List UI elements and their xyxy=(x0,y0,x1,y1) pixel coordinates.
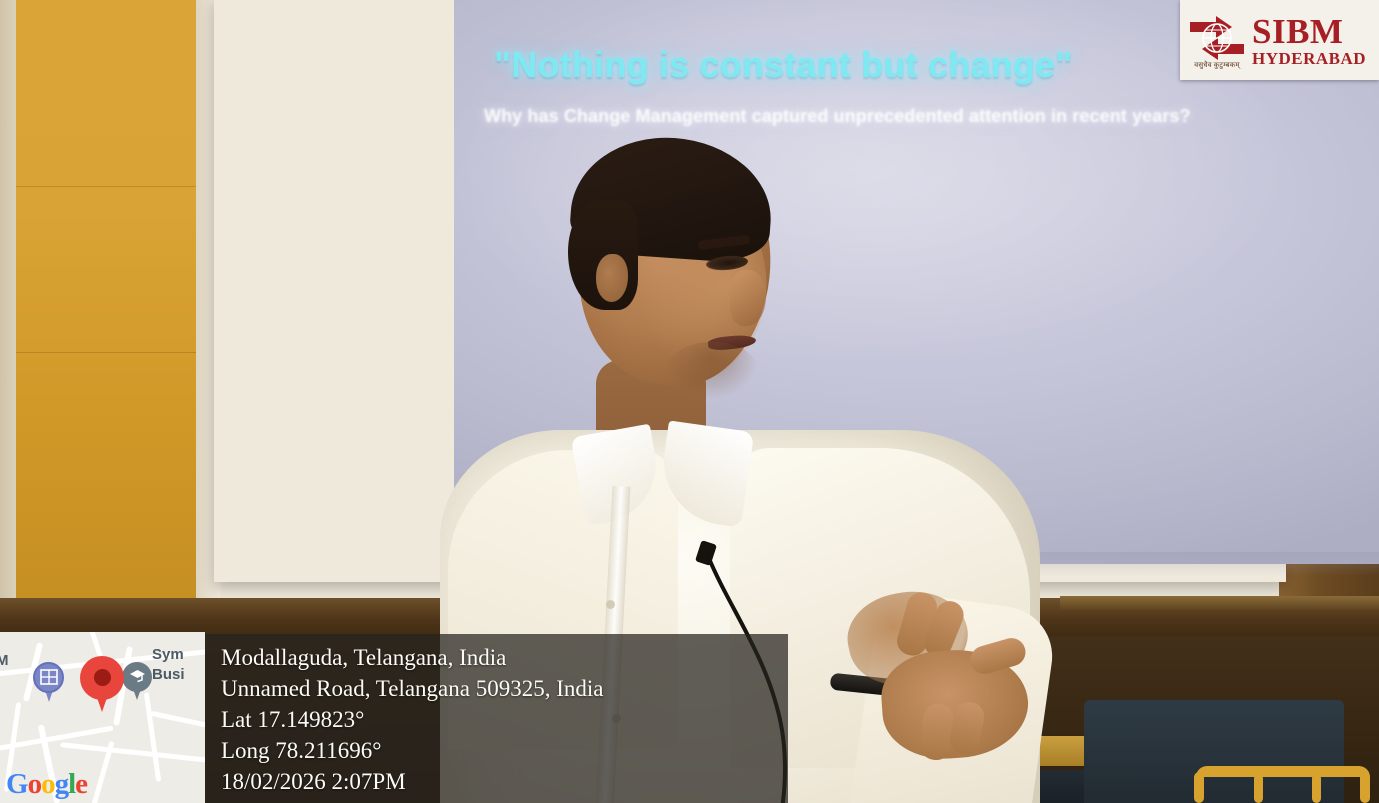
sibm-name: SIBM xyxy=(1252,14,1366,49)
gps-timestamp: 18/02/2026 2:07PM xyxy=(221,766,788,797)
map-label-sym: Sym xyxy=(152,646,184,663)
google-letter: g xyxy=(55,768,69,800)
map-marker-gray[interactable] xyxy=(122,662,152,702)
wall-ochre-panel xyxy=(16,0,198,600)
sibm-city: HYDERABAD xyxy=(1252,50,1366,67)
map-marker-current-location[interactable] xyxy=(80,656,124,714)
gps-map-thumbnail[interactable]: M Sym Busi Google xyxy=(0,632,205,803)
map-label-left: M xyxy=(0,652,9,669)
chair-yellow xyxy=(1192,748,1374,803)
sibm-sanskrit-motto: वसुधैव कुटुम्बकम् xyxy=(1186,61,1248,70)
google-watermark: Google xyxy=(6,768,87,801)
map-marker-blue[interactable] xyxy=(33,662,64,704)
map-label-busi: Busi xyxy=(152,666,185,683)
stage-edge xyxy=(1060,596,1379,610)
sibm-globe-icon: वसुधैव कुटुम्बकम् xyxy=(1186,12,1248,68)
chin-shadow xyxy=(666,342,758,398)
google-letter: o xyxy=(41,768,55,800)
sibm-logo: वसुधैव कुटुम्बकम् SIBM HYDERABAD xyxy=(1180,0,1379,80)
gps-longitude: Long 78.211696° xyxy=(221,735,788,766)
photo-canvas: "Nothing is constant but change" Why has… xyxy=(0,0,1379,803)
slide-subtitle: Why has Change Management captured unpre… xyxy=(484,106,1379,127)
shirt-button xyxy=(606,600,615,609)
gps-place: Modallaguda, Telangana, India xyxy=(221,642,788,673)
gps-latitude: Lat 17.149823° xyxy=(221,704,788,735)
google-letter: G xyxy=(6,768,28,800)
gps-info-panel: Modallaguda, Telangana, India Unnamed Ro… xyxy=(205,634,788,803)
google-letter: o xyxy=(28,768,42,800)
gps-address: Unnamed Road, Telangana 509325, India xyxy=(221,673,788,704)
google-letter: e xyxy=(75,768,87,800)
